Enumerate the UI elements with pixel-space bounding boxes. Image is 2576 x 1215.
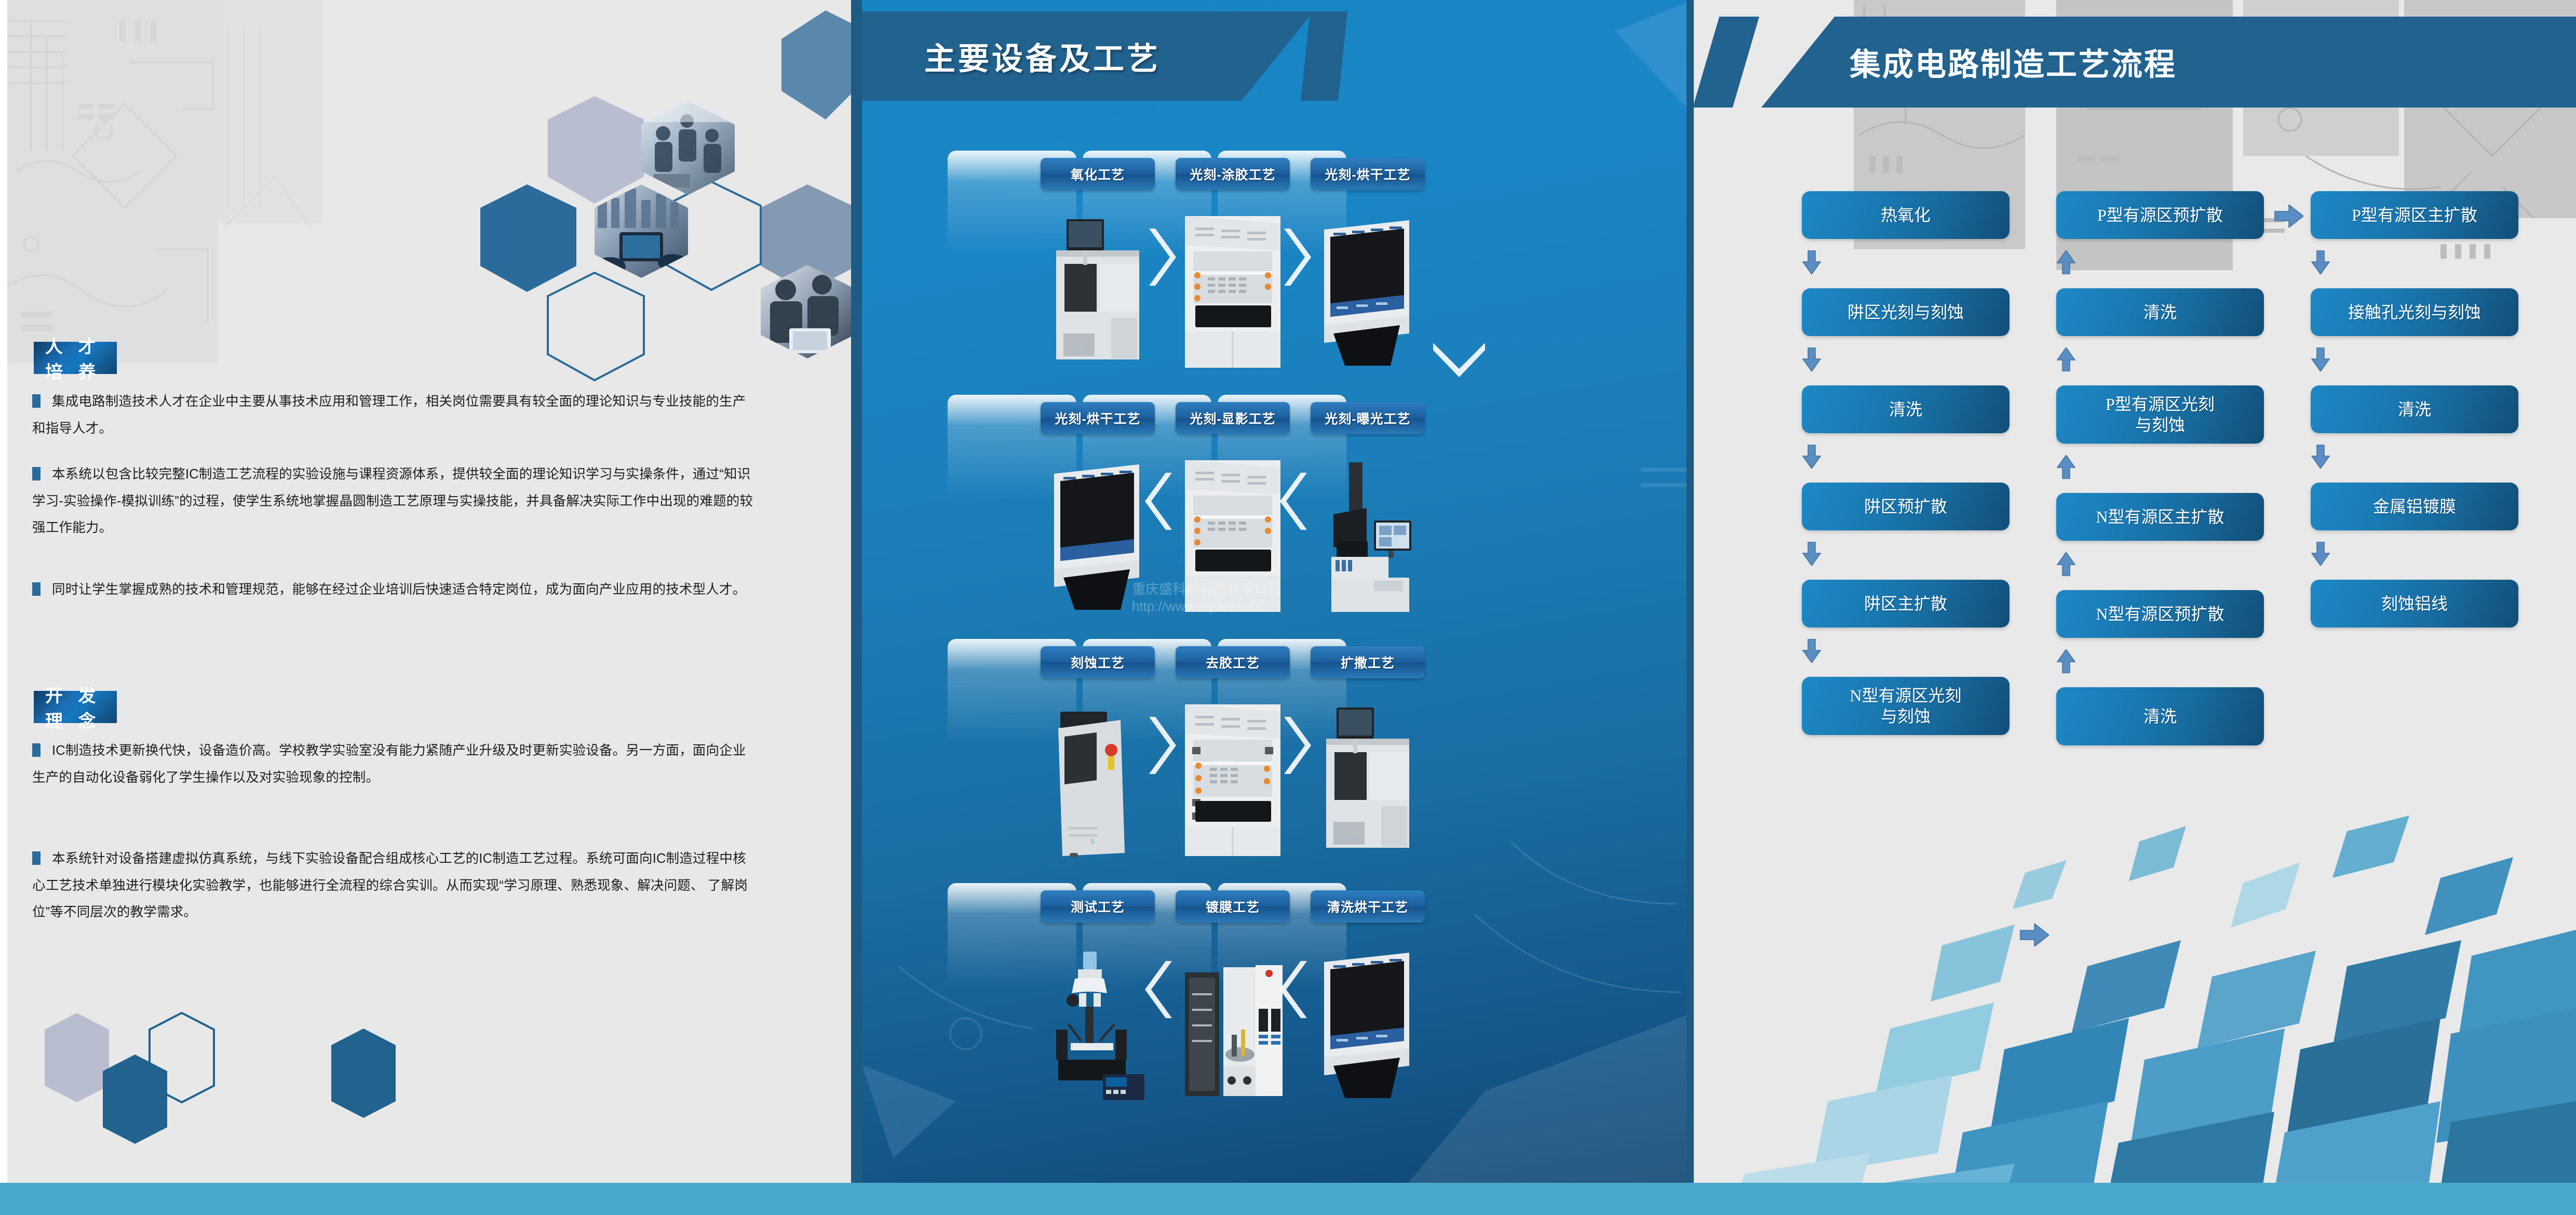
header-slash-decoration: [1693, 17, 1759, 108]
equipment-card-label: 光刻-烘干工艺: [1311, 158, 1425, 190]
bake-oven-cabinet-photo: [1313, 198, 1423, 385]
flow-box[interactable]: P型有源区光刻 与刻蚀: [2056, 385, 2264, 444]
flow-box[interactable]: P型有源区预扩散: [2056, 191, 2264, 239]
section-badge-philosophy-label: 开 发 理 念: [45, 682, 105, 732]
equipment-card[interactable]: 扩撒工艺 s: [1303, 639, 1432, 857]
hexagon-cluster-decoration: [441, 0, 857, 395]
equipment-card[interactable]: 镀膜工艺: [1168, 883, 1297, 1101]
chevron-left-icon: [1280, 956, 1311, 1023]
diffusion-furnace-photo: s: [1313, 687, 1423, 874]
paragraph-talent-2-text: 本系统以包含比较完整IC制造工艺流程的实验设施与课程资源体系，提供较全面的理论知…: [32, 467, 753, 535]
section-badge-talent: 人 才 培 养: [34, 342, 117, 374]
flow-box[interactable]: 清洗: [2311, 385, 2518, 433]
paragraph-talent-3: 同时让学生掌握成熟的技术和管理规范，能够在经过企业培训后快速适合特定岗位，成为面…: [32, 577, 759, 604]
bullet-square-icon: [32, 467, 41, 480]
plasma-etcher-photo: s: [1043, 687, 1153, 874]
stripper-hood-photo: [1178, 687, 1288, 874]
arrow-down-icon: [2311, 542, 2330, 566]
left-edge-strip: [0, 0, 7, 1183]
chevron-left-icon: [1145, 468, 1176, 535]
watermark: 重庆盛科纳科技有限公司 http://www.cqskn.com: [1132, 581, 1392, 615]
middle-panel-title: 主要设备及工艺: [924, 34, 1161, 79]
equipment-card-label: 测试工艺: [1041, 890, 1155, 923]
clean-dry-cabinet-photo: [1313, 931, 1423, 1118]
arrow-down-icon: [1802, 348, 1822, 371]
right-panel-title: 集成电路制造工艺流程: [1850, 39, 2177, 85]
equipment-card[interactable]: 清洗烘干工艺: [1303, 883, 1432, 1101]
arrow-right-icon: [2274, 205, 2303, 228]
flow-box[interactable]: P型有源区主扩散: [2311, 191, 2518, 239]
polygon-mosaic-decoration: [1693, 810, 2576, 1215]
arrow-down-icon: [2311, 445, 2330, 469]
flow-box[interactable]: N型有源区光刻 与刻蚀: [1802, 677, 2009, 735]
flow-box-label: P型有源区光刻 与刻蚀: [2106, 394, 2215, 435]
flow-box[interactable]: 清洗: [1802, 385, 2009, 433]
paragraph-talent-1: 集成电路制造技术人才在企业中主要从事技术应用和管理工作，相关岗位需要具有较全面的…: [32, 389, 759, 442]
arrow-down-icon: [1802, 639, 1822, 663]
evaporation-coater-photo: [1178, 931, 1288, 1118]
watermark-company: 重庆盛科纳科技有限公司: [1132, 581, 1392, 598]
section-badge-talent-label: 人 才 培 养: [45, 332, 105, 383]
arrow-right-icon: [2020, 924, 2049, 946]
arrow-down-icon: [2311, 348, 2330, 371]
equipment-card-label: 刻蚀工艺: [1041, 646, 1155, 678]
arrow-down-icon: [2311, 250, 2330, 274]
flow-box[interactable]: 清洗: [2056, 288, 2264, 336]
flow-column-1: 热氧化 阱区光刻与刻蚀 清洗 阱区预扩散 阱区主扩散 N型有源区光刻 与刻蚀: [1802, 191, 2009, 735]
bullet-square-icon: [32, 394, 41, 408]
flow-box[interactable]: 阱区预扩散: [1802, 483, 2009, 530]
chevron-right-icon: [1280, 712, 1311, 779]
arrow-up-icon: [2056, 455, 2076, 479]
flow-box[interactable]: 阱区主扩散: [1802, 580, 2009, 627]
equipment-card[interactable]: 光刻-涂胶工艺: [1168, 151, 1297, 369]
arrow-down-icon: [1802, 542, 1822, 566]
photoresist-coater-hood-photo: [1178, 198, 1288, 385]
equipment-card-label: 光刻-曝光工艺: [1311, 402, 1425, 434]
chevron-right-icon: [1280, 223, 1311, 291]
footer-bar: [0, 1183, 2576, 1215]
equipment-card-label: 清洗烘干工艺: [1311, 890, 1425, 923]
arrow-up-icon: [2056, 348, 2076, 371]
paragraph-philosophy-1-text: IC制造技术更新换代快，设备造价高。学校教学实验室没有能力紧随产业升级及时更新实…: [32, 743, 746, 785]
equipment-card-label: 扩撒工艺: [1311, 646, 1425, 678]
flow-box[interactable]: 刻蚀铝线: [2311, 580, 2518, 627]
watermark-url: http://www.cqskn.com: [1132, 598, 1392, 615]
header-slash-decoration: [1301, 11, 1347, 101]
equipment-card[interactable]: 光刻-显影工艺: [1168, 395, 1297, 613]
paragraph-philosophy-2: 本系统针对设备搭建虚拟仿真系统，与线下实验设备配合组成核心工艺的IC制造工艺过程…: [32, 846, 759, 926]
chevron-left-icon: [1145, 956, 1176, 1023]
bullet-square-icon: [32, 851, 41, 865]
bullet-square-icon: [32, 582, 41, 596]
arrow-up-icon: [2056, 250, 2076, 274]
equipment-card-label: 镀膜工艺: [1176, 890, 1290, 923]
right-panel: 集成电路制造工艺流程 热氧化 阱区光刻与刻蚀 清洗 阱区预扩散 阱区主扩散 N型…: [1693, 0, 2576, 1215]
flow-box[interactable]: 热氧化: [1802, 191, 2009, 239]
right-panel-header: 集成电路制造工艺流程: [1761, 17, 2576, 108]
poster-canvas: 人 才 培 养 集成电路制造技术人才在企业中主要从事技术应用和管理工作，相关岗位…: [0, 0, 2576, 1215]
chevron-left-icon: [1280, 468, 1311, 535]
svg-text:s: s: [1354, 835, 1357, 844]
svg-text:s: s: [1084, 346, 1087, 355]
equipment-card[interactable]: 去胶工艺: [1168, 639, 1297, 857]
equipment-card-label: 光刻-烘干工艺: [1041, 402, 1155, 434]
equipment-card-label: 去胶工艺: [1176, 646, 1290, 678]
panel-divider-left: [851, 0, 862, 1183]
probe-station-microscope-photo: [1043, 931, 1153, 1118]
paragraph-talent-1-text: 集成电路制造技术人才在企业中主要从事技术应用和管理工作，相关岗位需要具有较全面的…: [32, 394, 746, 436]
equipment-card-label: 光刻-显影工艺: [1176, 402, 1290, 434]
equipment-card[interactable]: 光刻-烘干工艺: [1033, 395, 1162, 613]
arrow-down-icon: [1802, 250, 1822, 274]
left-panel: 人 才 培 养 集成电路制造技术人才在企业中主要从事技术应用和管理工作，相关岗位…: [0, 0, 862, 1215]
middle-panel-header: 主要设备及工艺: [862, 11, 1314, 101]
flow-column-2: P型有源区预扩散 清洗 P型有源区光刻 与刻蚀 N型有源区主扩散 N型有源区预扩…: [2056, 191, 2264, 745]
middle-panel: 主要设备及工艺: [862, 0, 1693, 1215]
paragraph-philosophy-1: IC制造技术更新换代快，设备造价高。学校教学实验室没有能力紧随产业升级及时更新实…: [32, 738, 759, 791]
panel-divider-right: [1687, 0, 1694, 1183]
flow-box[interactable]: 清洗: [2056, 687, 2264, 745]
svg-text:s: s: [1090, 835, 1095, 846]
flow-box[interactable]: 阱区光刻与刻蚀: [1802, 288, 2009, 336]
flow-box-label: N型有源区光刻 与刻蚀: [1850, 685, 1961, 727]
chevron-right-icon: [1145, 223, 1176, 291]
equipment-card-label: 光刻-涂胶工艺: [1176, 158, 1290, 190]
equipment-card[interactable]: 光刻-曝光工艺: [1303, 395, 1432, 613]
hexagon-bottom-decoration: [31, 1008, 654, 1184]
bullet-square-icon: [32, 743, 41, 757]
arrow-up-icon: [2056, 649, 2076, 673]
flow-column-3: P型有源区主扩散 接触孔光刻与刻蚀 清洗 金属铝镀膜 刻蚀铝线: [2311, 191, 2518, 627]
paragraph-talent-2: 本系统以包含比较完整IC制造工艺流程的实验设施与课程资源体系，提供较全面的理论知…: [32, 461, 759, 542]
flow-box[interactable]: N型有源区主扩散: [2056, 493, 2264, 541]
oxidation-furnace-photo: s: [1043, 198, 1153, 385]
equipment-card[interactable]: 氧化工艺 s: [1033, 151, 1162, 369]
flow-box[interactable]: 金属铝镀膜: [2311, 483, 2518, 530]
equipment-card[interactable]: 光刻-烘干工艺: [1303, 151, 1432, 369]
chevron-down-turn-icon: [1428, 332, 1490, 395]
flow-box[interactable]: N型有源区预扩散: [2056, 590, 2264, 638]
paragraph-philosophy-2-text: 本系统针对设备搭建虚拟仿真系统，与线下实验设备配合组成核心工艺的IC制造工艺过程…: [32, 851, 748, 919]
paragraph-talent-3-text: 同时让学生掌握成熟的技术和管理规范，能够在经过企业培训后快速适合特定岗位，成为面…: [52, 582, 746, 597]
chevron-right-icon: [1145, 712, 1176, 779]
flow-box[interactable]: 接触孔光刻与刻蚀: [2311, 288, 2518, 336]
arrow-down-icon: [1802, 445, 1822, 469]
arrow-up-icon: [2056, 552, 2076, 576]
equipment-card[interactable]: 刻蚀工艺 s: [1033, 639, 1162, 857]
section-badge-philosophy: 开 发 理 念: [34, 691, 117, 723]
equipment-card-label: 氧化工艺: [1041, 158, 1155, 190]
equipment-card[interactable]: 测试工艺: [1033, 883, 1162, 1101]
